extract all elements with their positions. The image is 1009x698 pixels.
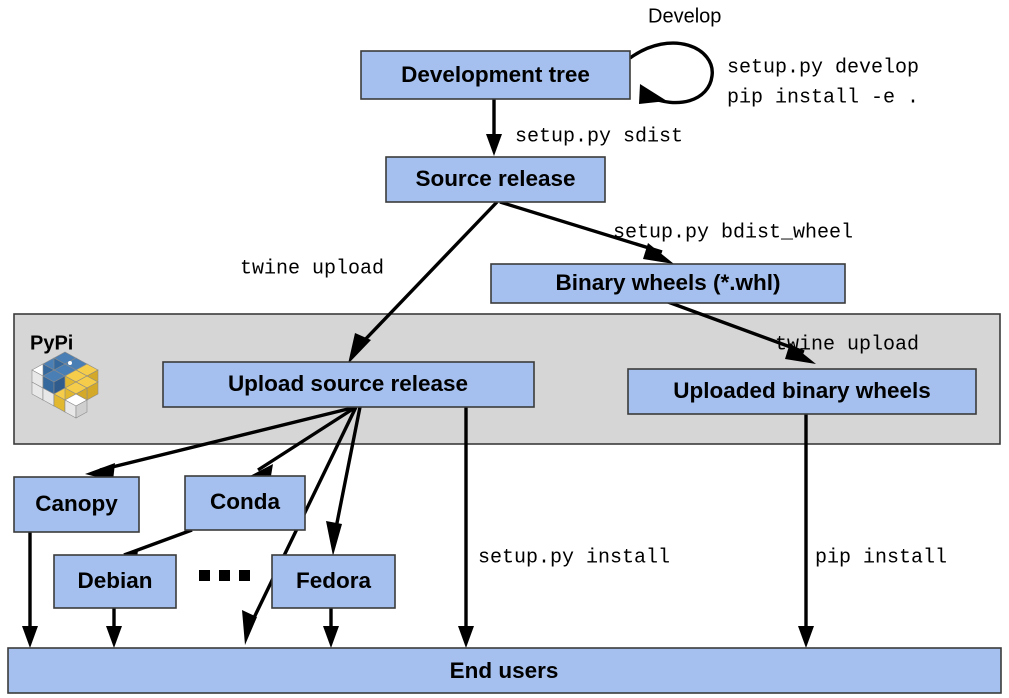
label-twine-upload-wheels: twine upload [775, 333, 919, 356]
edge-develop-self-loop [630, 43, 712, 104]
arrow-head-develop [639, 84, 667, 104]
flow-svg: PyPi [0, 0, 1009, 698]
edge-uploaded-wheels-to-end-users [798, 414, 814, 648]
binary-wheels-label: Binary wheels (*.whl) [555, 270, 780, 295]
node-debian[interactable]: Debian [54, 555, 176, 608]
node-source-release[interactable]: Source release [386, 157, 605, 202]
packaging-flow-diagram: PyPi [0, 0, 1009, 698]
label-setup-bdist-wheel: setup.py bdist_wheel [613, 221, 853, 244]
fedora-label: Fedora [296, 568, 372, 593]
node-binary-wheels[interactable]: Binary wheels (*.whl) [491, 264, 845, 303]
debian-label: Debian [77, 568, 152, 593]
node-fedora[interactable]: Fedora [272, 555, 395, 608]
node-end-users[interactable]: End users [8, 648, 1001, 693]
conda-label: Conda [210, 489, 280, 514]
upload-source-release-label: Upload source release [228, 371, 468, 396]
arrow-head-debian-end-users [106, 626, 122, 648]
node-development-tree[interactable]: Development tree [361, 51, 630, 99]
edge-debian-to-end-users [106, 608, 122, 648]
label-setup-install: setup.py install [478, 546, 670, 569]
arrow-head-fedora-end-users [323, 626, 339, 648]
label-setup-develop: setup.py develop [727, 56, 919, 79]
development-tree-label: Development tree [401, 62, 590, 87]
edge-dev-to-source [486, 99, 502, 156]
label-develop: Develop [648, 5, 721, 27]
node-upload-source-release[interactable]: Upload source release [163, 362, 534, 407]
arrow-head-fedora [326, 521, 342, 556]
uploaded-binary-wheels-label: Uploaded binary wheels [673, 378, 931, 403]
arrow-head-pip-install [798, 626, 814, 648]
label-pip-install-editable: pip install -e . [727, 86, 919, 109]
arrow-head-bdist-wheel [643, 243, 674, 264]
node-uploaded-binary-wheels[interactable]: Uploaded binary wheels [628, 369, 976, 414]
end-users-label: End users [450, 658, 559, 683]
source-release-label: Source release [415, 166, 575, 191]
edge-canopy-to-end-users [22, 532, 38, 648]
ellipsis-indicator [199, 570, 250, 581]
edge-fedora-to-end-users [323, 608, 339, 648]
label-pip-install: pip install [815, 546, 947, 569]
arrow-head-sdist [486, 134, 502, 156]
node-canopy[interactable]: Canopy [14, 477, 139, 532]
arrow-head-canopy-end-users [22, 626, 38, 648]
label-twine-upload-source: twine upload [240, 257, 384, 280]
canopy-label: Canopy [35, 491, 118, 516]
arrow-head-setup-install [458, 626, 474, 648]
label-setup-sdist: setup.py sdist [515, 125, 683, 148]
pypi-region-label: PyPi [30, 332, 73, 354]
node-conda[interactable]: Conda [185, 476, 305, 530]
